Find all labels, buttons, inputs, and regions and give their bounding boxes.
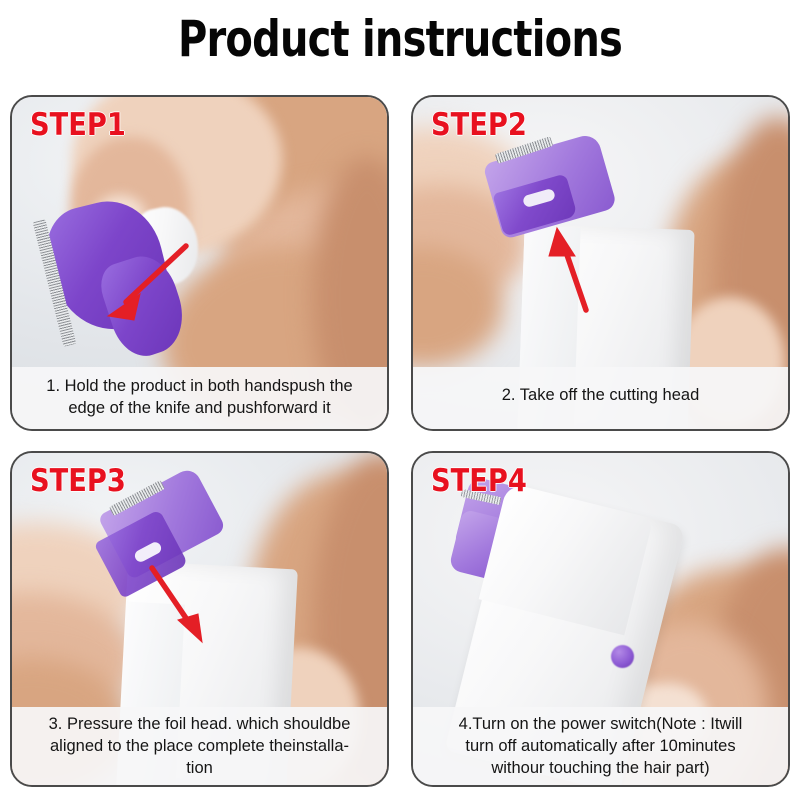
step-4-caption-line-1: 4.Turn on the power switch(Note : Itwill (423, 713, 778, 735)
step-3-caption: 3. Pressure the foil head. which shouldb… (12, 707, 387, 785)
step-panel-3: STEP3 3. Pressure the foil head. which s… (10, 451, 389, 787)
step-panel-1: STEP1 1. Hold the product in both handsp… (10, 95, 389, 431)
step-2-arrow-up (543, 222, 613, 317)
step-1-label: STEP1 (30, 105, 126, 145)
step-panel-2: STEP2 2. Take off the cutting head (411, 95, 790, 431)
step-4-caption-line-2: turn off automatically after 10minutes (423, 735, 778, 757)
step-4-caption: 4.Turn on the power switch(Note : Itwill… (413, 707, 788, 785)
step-panel-4: STEP4 4.Turn on the power switch(Note : … (411, 451, 790, 787)
step-1-arrow-down-left (90, 232, 200, 342)
step-3-caption-line-2: aligned to the place complete theinstall… (22, 735, 377, 757)
step-3-arrow-down-right (140, 558, 235, 658)
step-1-caption-line-1: 1. Hold the product in both handspush th… (22, 375, 377, 397)
page-title: Product instructions (80, 6, 720, 72)
step-3-caption-line-1: 3. Pressure the foil head. which shouldb… (22, 713, 377, 735)
step-2-caption: 2. Take off the cutting head (413, 367, 788, 429)
step-1-caption-line-2: edge of the knife and pushforward it (22, 397, 377, 419)
step-3-label: STEP3 (30, 461, 126, 501)
step-4-label: STEP4 (431, 461, 527, 501)
step-2-label: STEP2 (431, 105, 527, 145)
power-button[interactable] (611, 645, 634, 668)
step-4-caption-line-3: withour touching the hair part) (423, 757, 778, 779)
step-3-caption-line-3: tion (22, 757, 377, 779)
step-2-caption-line-1: 2. Take off the cutting head (423, 384, 778, 406)
steps-grid: STEP1 1. Hold the product in both handsp… (10, 95, 790, 787)
step-1-caption: 1. Hold the product in both handspush th… (12, 367, 387, 429)
instruction-infographic: Product instructions (0, 0, 800, 800)
